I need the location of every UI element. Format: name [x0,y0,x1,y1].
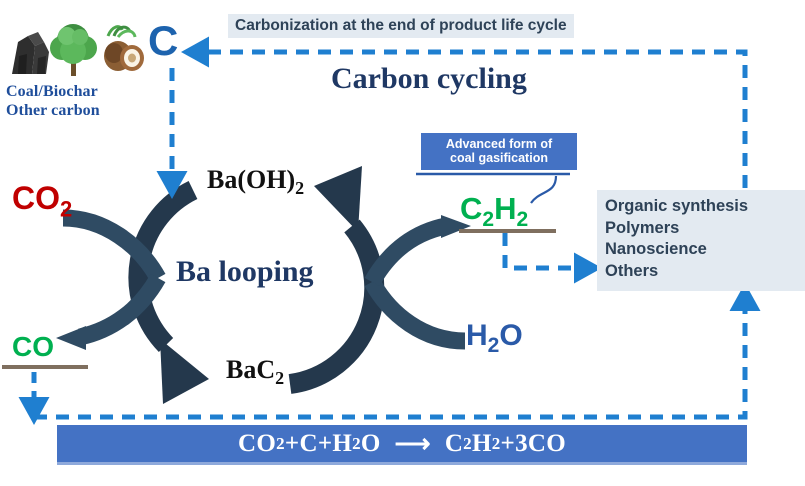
species-barium-carbide: BaC2 [226,356,284,392]
eq-plus-3: + [501,430,516,458]
overall-equation-bar: CO2 + C + H2O⟶C2H2 + 3CO [57,425,747,465]
eq-plus-2: + [318,430,333,458]
co2-subscript: 2 [60,196,72,221]
product-item-1: Organic synthesis [605,196,803,218]
h2o-o: O [499,319,522,352]
baoh2-subscript: 2 [295,178,304,198]
eq-c2h2-sub2: 2 [492,434,501,454]
species-barium-hydroxide: Ba(OH)2 [207,166,304,202]
c2h2-subscript-2: 2 [516,208,528,231]
eq-c2h2-c: C [445,430,463,458]
product-item-3: Nanoscience [605,239,803,261]
gasification-line2: coal gasification [425,151,573,165]
diagram-title: Carbon cycling [331,63,527,95]
products-box: Organic synthesis Polymers Nanoscience O… [597,190,805,291]
eq-co2: CO [238,430,276,458]
carbon-sources-line2: Other carbon [6,101,156,120]
product-item-4: Others [605,261,803,283]
species-carbon-monoxide: CO [12,332,54,362]
product-item-2: Polymers [605,218,803,240]
eq-co2-sub: 2 [276,434,285,454]
baoh2-base: Ba(OH) [207,165,295,194]
species-acetylene: C2H2 [460,192,528,236]
carbon-sources-label: Coal/Biochar Other carbon [6,82,156,120]
tree-icon [50,24,97,76]
dashed-c2h2-to-products [505,233,585,268]
c2h2-c: C [460,191,482,226]
eq-plus-1: + [285,430,300,458]
bac2-subscript: 2 [275,368,284,388]
eq-h2o-sub: 2 [352,434,361,454]
eq-h2o-o: O [361,430,381,458]
h2o-h: H [466,319,488,352]
c2h2-h: H [494,191,516,226]
species-water: H2O [466,320,523,362]
eq-c2h2-sub1: 2 [463,434,472,454]
carbon-sources-line1: Coal/Biochar [6,82,156,101]
carbonization-annotation: Carbonization at the end of product life… [228,14,574,38]
cycle-center-label: Ba looping [176,256,314,288]
c2h2-subscript-1: 2 [482,208,494,231]
arrow-c2h2-out [372,215,471,282]
co2-base: CO [12,180,60,216]
eq-h2o-h: H [332,430,352,458]
diagram-canvas: Coal/Biochar Other carbon C Carbonizatio… [0,0,805,486]
bac2-base: BaC [226,355,275,384]
coal-pile-icon [12,32,49,74]
h2o-subscript: 2 [488,334,500,357]
eq-c2h2-h: H [472,430,492,458]
species-carbon-dioxide: CO2 [12,181,72,226]
eq-co-product: 3CO [515,430,566,458]
coconut-icon [104,27,144,71]
eq-c: C [299,430,317,458]
species-carbon: C [148,20,178,62]
carbon-sources-artwork [8,16,148,82]
gasification-leader [531,176,556,203]
gasification-annotation-box: Advanced form of coal gasification [421,133,577,170]
gasification-line1: Advanced form of [425,137,573,151]
eq-arrow: ⟶ [381,429,445,459]
arrow-h2o-in [372,282,465,341]
